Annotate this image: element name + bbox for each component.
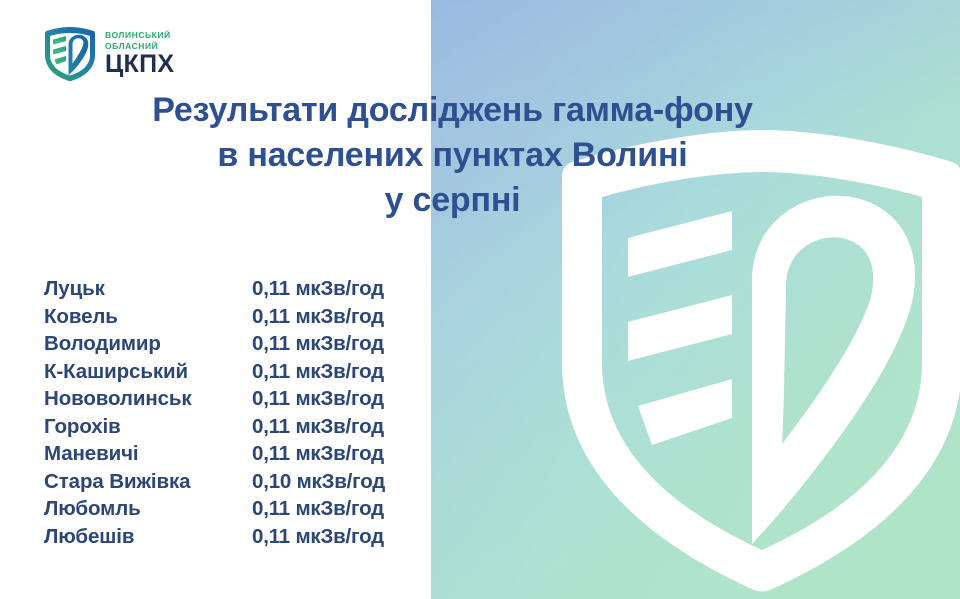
reading-city: Володимир <box>44 332 252 356</box>
reading-city: Горохів <box>44 415 252 439</box>
brand-line-2: ОБЛАСНИЙ <box>105 42 174 51</box>
reading-row: Горохів0,11 мкЗв/год <box>44 415 414 443</box>
reading-row: Любомль0,11 мкЗв/год <box>44 497 414 525</box>
reading-city: Луцьк <box>44 277 252 301</box>
ckph-shield-logo-icon <box>44 26 96 82</box>
reading-city: Ковель <box>44 305 252 329</box>
page-title-line-2: в населених пунктах Волині <box>0 133 905 178</box>
reading-row: Маневичі0,11 мкЗв/год <box>44 442 414 470</box>
reading-value: 0,11 мкЗв/год <box>252 497 414 521</box>
reading-row: Стара Вижівка0,10 мкЗв/год <box>44 470 414 498</box>
poster-canvas: ВОЛИНСЬКИЙ ОБЛАСНИЙ ЦКПХ Результати досл… <box>0 0 960 599</box>
reading-city: Любешів <box>44 525 252 549</box>
brand-line-1: ВОЛИНСЬКИЙ <box>105 31 174 40</box>
reading-value: 0,11 мкЗв/год <box>252 305 414 329</box>
reading-city: К-Каширський <box>44 360 252 384</box>
reading-row: К-Каширський0,11 мкЗв/год <box>44 360 414 388</box>
readings-list: Луцьк0,11 мкЗв/годКовель0,11 мкЗв/годВол… <box>44 277 414 552</box>
reading-value: 0,11 мкЗв/год <box>252 387 414 411</box>
reading-city: Маневичі <box>44 442 252 466</box>
reading-value: 0,11 мкЗв/год <box>252 360 414 384</box>
reading-value: 0,10 мкЗв/год <box>252 470 414 494</box>
brand-logo: ВОЛИНСЬКИЙ ОБЛАСНИЙ ЦКПХ <box>44 26 174 82</box>
reading-row: Любешів0,11 мкЗв/год <box>44 525 414 553</box>
reading-city: Нововолинськ <box>44 387 252 411</box>
reading-value: 0,11 мкЗв/год <box>252 525 414 549</box>
page-title: Результати досліджень гамма-фону в насел… <box>0 88 905 224</box>
reading-value: 0,11 мкЗв/год <box>252 415 414 439</box>
reading-city: Стара Вижівка <box>44 470 252 494</box>
reading-value: 0,11 мкЗв/год <box>252 442 414 466</box>
reading-city: Любомль <box>44 497 252 521</box>
reading-row: Луцьк0,11 мкЗв/год <box>44 277 414 305</box>
reading-row: Володимир0,11 мкЗв/год <box>44 332 414 360</box>
reading-value: 0,11 мкЗв/год <box>252 277 414 301</box>
reading-value: 0,11 мкЗв/год <box>252 332 414 356</box>
brand-logo-text: ВОЛИНСЬКИЙ ОБЛАСНИЙ ЦКПХ <box>105 31 174 77</box>
reading-row: Нововолинськ0,11 мкЗв/год <box>44 387 414 415</box>
page-title-line-3: у серпні <box>0 178 905 223</box>
reading-row: Ковель0,11 мкЗв/год <box>44 305 414 333</box>
page-title-line-1: Результати досліджень гамма-фону <box>0 88 905 133</box>
brand-acronym: ЦКПХ <box>105 53 174 77</box>
